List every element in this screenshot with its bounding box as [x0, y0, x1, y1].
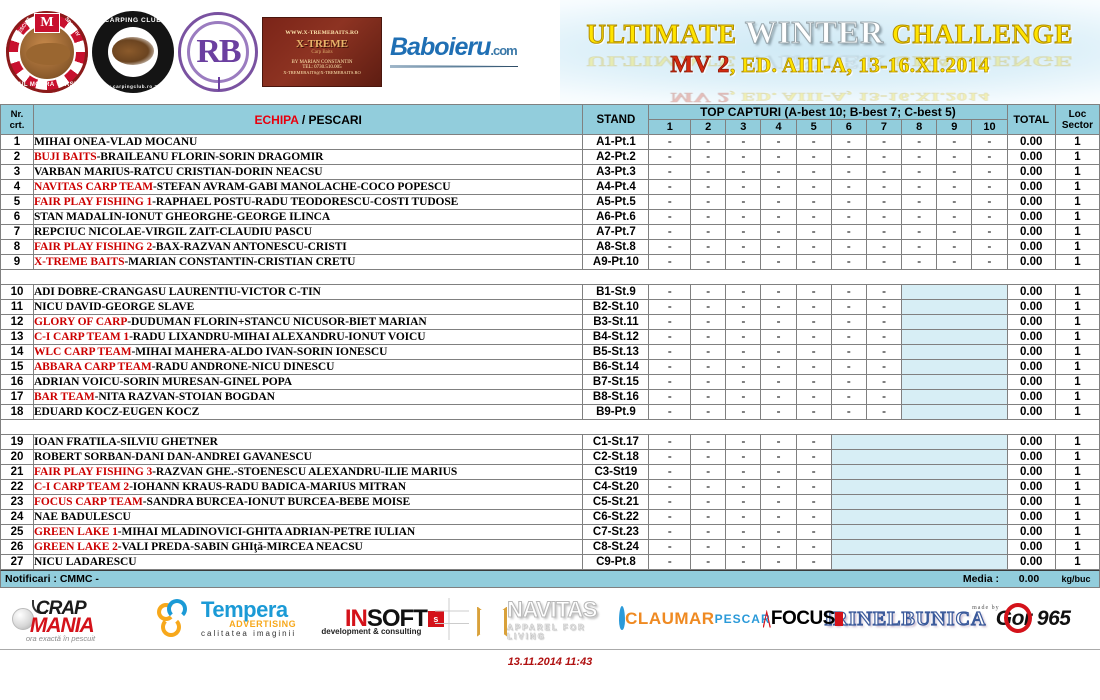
sponsor-gor-965: made by Gor 965	[968, 593, 1088, 645]
cell-nr: 24	[1, 510, 34, 525]
cell-catch[interactable]: -	[796, 510, 831, 525]
cell-catch[interactable]: -	[691, 450, 726, 465]
cell-total: 0.00	[1007, 510, 1055, 525]
cell-catch[interactable]: -	[902, 225, 937, 240]
cell-catch[interactable]: -	[831, 225, 866, 240]
cell-catch[interactable]: -	[726, 360, 761, 375]
fishing-rod-icon	[390, 64, 518, 69]
cell-catch[interactable]: -	[691, 525, 726, 540]
cell-catch[interactable]: -	[649, 180, 691, 195]
cell-catch[interactable]: -	[691, 345, 726, 360]
cell-catch[interactable]: -	[726, 195, 761, 210]
table-row[interactable]: 10ADI DOBRE-CRANGASU LAURENTIU-VICTOR C-…	[1, 285, 1100, 300]
cell-catch[interactable]: -	[649, 450, 691, 465]
cell-stand: B3-St.11	[583, 315, 649, 330]
cell-nr: 3	[1, 165, 34, 180]
cell-catch[interactable]: -	[726, 495, 761, 510]
sponsor-claumar: CLAUMAR PESCAR	[635, 593, 755, 645]
cell-catch[interactable]: -	[761, 240, 796, 255]
cell-team-anglers: VARBAN MARIUS-RATCU CRISTIAN-DORIN NEACS…	[33, 165, 582, 180]
cell-catch[interactable]: -	[726, 315, 761, 330]
cell-catch[interactable]: -	[726, 405, 761, 420]
cell-loc-sector: 1	[1055, 135, 1099, 150]
cell-catch[interactable]: -	[726, 525, 761, 540]
cell-total: 0.00	[1007, 345, 1055, 360]
cell-catch[interactable]: -	[972, 135, 1007, 150]
cell-catch[interactable]: -	[831, 150, 866, 165]
cell-team-anglers: GREEN LAKE 2-VALI PREDA-SABIN GHIţă-MIRC…	[33, 540, 582, 555]
cell-total: 0.00	[1007, 240, 1055, 255]
cell-catch[interactable]: -	[649, 210, 691, 225]
cell-catch[interactable]: -	[691, 510, 726, 525]
table-row[interactable]: 25GREEN LAKE 1-MIHAI MLADINOVICI-GHITA A…	[1, 525, 1100, 540]
cell-catch[interactable]: -	[761, 480, 796, 495]
table-row[interactable]: 23FOCUS CARP TEAM-SANDRA BURCEA-IONUT BU…	[1, 495, 1100, 510]
cell-catch[interactable]: -	[726, 225, 761, 240]
cell-catch[interactable]: -	[831, 315, 866, 330]
tempera-name: Tempera	[201, 599, 296, 621]
cell-catch[interactable]: -	[902, 180, 937, 195]
media-label: Media :	[963, 573, 1005, 585]
cell-catch[interactable]: -	[796, 165, 831, 180]
logo-rb: RB	[178, 12, 258, 92]
cell-catch[interactable]: -	[691, 405, 726, 420]
baboieru-name: Baboieru	[390, 33, 490, 61]
baboieru-suffix: .com	[490, 43, 516, 58]
cell-catch[interactable]: -	[726, 180, 761, 195]
cell-catch[interactable]: -	[761, 405, 796, 420]
cell-catch[interactable]: -	[866, 390, 901, 405]
cell-catch[interactable]: -	[831, 360, 866, 375]
cell-catch[interactable]: -	[649, 405, 691, 420]
cell-catch[interactable]: -	[649, 540, 691, 555]
cell-team-anglers: BAR TEAM-NITA RAZVAN-STOIAN BOGDAN	[33, 390, 582, 405]
cell-stand: A8-St.8	[583, 240, 649, 255]
cell-catch[interactable]: -	[649, 135, 691, 150]
cell-catch[interactable]: -	[761, 255, 796, 270]
cell-catch[interactable]: -	[691, 180, 726, 195]
cell-catch[interactable]: -	[761, 150, 796, 165]
table-row[interactable]: 6STAN MADALIN-IONUT GHEORGHE-GEORGE ILIN…	[1, 210, 1100, 225]
cell-loc-sector: 1	[1055, 345, 1099, 360]
cell-total: 0.00	[1007, 255, 1055, 270]
cell-team-anglers: FAIR PLAY FISHING 1-RAPHAEL POSTU-RADU T…	[33, 195, 582, 210]
cell-stand: B7-St.15	[583, 375, 649, 390]
cell-catch[interactable]: -	[761, 375, 796, 390]
cell-catch[interactable]: -	[937, 195, 972, 210]
cell-catch[interactable]: -	[796, 255, 831, 270]
cell-catch[interactable]: -	[902, 255, 937, 270]
cell-catch[interactable]: -	[691, 150, 726, 165]
cell-catch[interactable]: -	[691, 390, 726, 405]
cell-catch[interactable]: -	[649, 285, 691, 300]
table-row[interactable]: 15ABBARA CARP TEAM-RADU ANDRONE-NICU DIN…	[1, 360, 1100, 375]
cell-catch[interactable]: -	[761, 315, 796, 330]
cell-catch[interactable]: -	[761, 345, 796, 360]
cell-catch[interactable]: -	[761, 360, 796, 375]
cell-catch[interactable]: -	[831, 390, 866, 405]
table-row[interactable]: 2BUJI BAITS-BRAILEANU FLORIN-SORIN DRAGO…	[1, 150, 1100, 165]
cell-team-anglers: GLORY OF CARP-DUDUMAN FLORIN+STANCU NICU…	[33, 315, 582, 330]
cell-catch[interactable]: -	[866, 240, 901, 255]
cell-catch[interactable]: -	[761, 465, 796, 480]
cell-nr: 11	[1, 300, 34, 315]
cell-catch[interactable]: -	[649, 165, 691, 180]
cell-catch[interactable]: -	[866, 180, 901, 195]
cell-catch[interactable]: -	[796, 240, 831, 255]
cell-catch[interactable]: -	[691, 135, 726, 150]
cell-catch[interactable]: -	[691, 255, 726, 270]
cell-catch[interactable]: -	[831, 165, 866, 180]
cell-catch[interactable]: -	[937, 135, 972, 150]
cell-catch[interactable]: -	[866, 225, 901, 240]
cell-catch[interactable]: -	[726, 345, 761, 360]
cell-loc-sector: 1	[1055, 285, 1099, 300]
cell-catch[interactable]: -	[726, 135, 761, 150]
cell-catch[interactable]: -	[796, 495, 831, 510]
cell-catch[interactable]: -	[866, 375, 901, 390]
cell-catch[interactable]: -	[691, 495, 726, 510]
cell-team-anglers: BUJI BAITS-BRAILEANU FLORIN-SORIN DRAGOM…	[33, 150, 582, 165]
cell-team-anglers: NAVITAS CARP TEAM-STEFAN AVRAM-GABI MANO…	[33, 180, 582, 195]
cell-catch[interactable]: -	[691, 300, 726, 315]
cell-catch[interactable]: -	[796, 525, 831, 540]
cell-catch[interactable]: -	[726, 240, 761, 255]
cell-catch[interactable]: -	[691, 165, 726, 180]
cell-catch[interactable]: -	[649, 360, 691, 375]
cell-catch[interactable]: -	[937, 180, 972, 195]
notifications-bar: Notificari : CMMC - Media : 0.00 kg/buc	[0, 570, 1100, 588]
cell-catch[interactable]: -	[972, 165, 1007, 180]
cell-catch[interactable]: -	[796, 285, 831, 300]
cell-catch[interactable]: -	[691, 195, 726, 210]
cell-catch-disabled	[831, 450, 1007, 465]
cell-catch[interactable]: -	[902, 210, 937, 225]
cell-team-anglers: NAE BADULESCU	[33, 510, 582, 525]
cell-loc-sector: 1	[1055, 540, 1099, 555]
table-row[interactable]: 24NAE BADULESCUC6-St.22-----0.001	[1, 510, 1100, 525]
table-row[interactable]: 1MIHAI ONEA-VLAD MOCANUA1-Pt.1----------…	[1, 135, 1100, 150]
table-row[interactable]: 26GREEN LAKE 2-VALI PREDA-SABIN GHIţă-MI…	[1, 540, 1100, 555]
cell-catch[interactable]: -	[726, 555, 761, 570]
cell-catch[interactable]: -	[831, 210, 866, 225]
table-row[interactable]: 19IOAN FRATILA-SILVIU GHETNERC1-St.17---…	[1, 435, 1100, 450]
th-catch-9: 9	[937, 120, 972, 135]
cell-catch[interactable]: -	[649, 255, 691, 270]
cell-team-anglers: ADRIAN VOICU-SORIN MURESAN-GINEL POPA	[33, 375, 582, 390]
cell-catch-disabled	[831, 510, 1007, 525]
cell-catch[interactable]: -	[691, 360, 726, 375]
cell-catch[interactable]: -	[796, 375, 831, 390]
cell-catch[interactable]: -	[796, 345, 831, 360]
cell-catch[interactable]: -	[649, 465, 691, 480]
cell-catch[interactable]: -	[937, 225, 972, 240]
cell-nr: 9	[1, 255, 34, 270]
cell-catch[interactable]: -	[972, 195, 1007, 210]
cell-catch[interactable]: -	[691, 435, 726, 450]
cell-team-anglers: REPCIUC NICOLAE-VIRGIL ZAIT-CLAUDIU PASC…	[33, 225, 582, 240]
cell-catch[interactable]: -	[649, 240, 691, 255]
cell-catch[interactable]: -	[831, 300, 866, 315]
cell-catch[interactable]: -	[761, 450, 796, 465]
table-row[interactable]: 22C-I CARP TEAM 2-IOHANN KRAUS-RADU BADI…	[1, 480, 1100, 495]
sponsor-navitas: NAVITAS APPAREL FOR LIVING	[477, 594, 627, 644]
media-value: 0.00	[1005, 573, 1053, 585]
cell-catch[interactable]: -	[796, 195, 831, 210]
cell-catch[interactable]: -	[726, 375, 761, 390]
cell-catch[interactable]: -	[691, 285, 726, 300]
cell-catch[interactable]: -	[691, 330, 726, 345]
tournament-scoreboard-page: M LACUL MOARA VLASIEI 2 PESCUIT SPORTIV …	[0, 0, 1100, 700]
cell-catch[interactable]: -	[649, 315, 691, 330]
cell-catch[interactable]: -	[726, 540, 761, 555]
cell-catch[interactable]: -	[831, 345, 866, 360]
cell-catch[interactable]: -	[937, 150, 972, 165]
cell-catch[interactable]: -	[761, 195, 796, 210]
cell-total: 0.00	[1007, 210, 1055, 225]
table-row[interactable]: 13C-I CARP TEAM 1-RADU LIXANDRU-MIHAI AL…	[1, 330, 1100, 345]
cell-catch[interactable]: -	[691, 555, 726, 570]
cell-total: 0.00	[1007, 390, 1055, 405]
cell-catch[interactable]: -	[972, 210, 1007, 225]
cell-catch[interactable]: -	[761, 210, 796, 225]
cell-catch[interactable]: -	[796, 465, 831, 480]
cell-catch[interactable]: -	[726, 435, 761, 450]
cell-catch[interactable]: -	[902, 165, 937, 180]
cell-catch[interactable]: -	[649, 225, 691, 240]
th-catch-2: 2	[691, 120, 726, 135]
gor-oval-icon	[1004, 603, 1032, 633]
cell-catch[interactable]: -	[937, 240, 972, 255]
cell-catch[interactable]: -	[972, 225, 1007, 240]
cell-team-anglers: MIHAI ONEA-VLAD MOCANU	[33, 135, 582, 150]
cell-catch[interactable]: -	[761, 300, 796, 315]
cell-catch[interactable]: -	[649, 510, 691, 525]
cell-catch[interactable]: -	[902, 195, 937, 210]
cell-catch[interactable]: -	[761, 390, 796, 405]
sponsor-footer: CRAP MANIA ora exactă în pescuit Tempera…	[0, 588, 1100, 650]
cell-catch[interactable]: -	[649, 195, 691, 210]
cell-catch[interactable]: -	[726, 285, 761, 300]
table-row[interactable]: 3VARBAN MARIUS-RATCU CRISTIAN-DORIN NEAC…	[1, 165, 1100, 180]
table-row[interactable]: 8FAIR PLAY FISHING 2-BAX-RAZVAN ANTONESC…	[1, 240, 1100, 255]
cell-catch[interactable]: -	[972, 240, 1007, 255]
th-loc-sector: LocSector	[1055, 105, 1099, 135]
rb-text: RB	[196, 35, 239, 69]
cell-catch[interactable]: -	[831, 135, 866, 150]
cell-catch[interactable]: -	[972, 255, 1007, 270]
cell-catch[interactable]: -	[761, 510, 796, 525]
cell-catch[interactable]: -	[937, 255, 972, 270]
cell-catch[interactable]: -	[796, 225, 831, 240]
cell-catch[interactable]: -	[726, 255, 761, 270]
cell-catch[interactable]: -	[761, 495, 796, 510]
cell-catch[interactable]: -	[726, 465, 761, 480]
table-row[interactable]: 17BAR TEAM-NITA RAZVAN-STOIAN BOGDANB8-S…	[1, 390, 1100, 405]
cell-catch[interactable]: -	[866, 255, 901, 270]
table-row[interactable]: 5FAIR PLAY FISHING 1-RAPHAEL POSTU-RADU …	[1, 195, 1100, 210]
cell-catch[interactable]: -	[649, 390, 691, 405]
table-row[interactable]: 16ADRIAN VOICU-SORIN MURESAN-GINEL POPAB…	[1, 375, 1100, 390]
cell-stand: B9-Pt.9	[583, 405, 649, 420]
tempera-tagline: calitatea imaginii	[201, 629, 296, 638]
cell-catch-disabled	[831, 435, 1007, 450]
cell-catch[interactable]: -	[796, 555, 831, 570]
cell-catch[interactable]: -	[691, 225, 726, 240]
cell-catch[interactable]: -	[726, 480, 761, 495]
table-row[interactable]: 27NICU LADARESCUC9-Pt.8-----0.001	[1, 555, 1100, 570]
cell-catch[interactable]: -	[866, 135, 901, 150]
cell-catch[interactable]: -	[649, 495, 691, 510]
cell-catch[interactable]: -	[796, 435, 831, 450]
cell-catch[interactable]: -	[866, 300, 901, 315]
cell-catch[interactable]: -	[761, 225, 796, 240]
cell-catch[interactable]: -	[761, 285, 796, 300]
cell-catch[interactable]: -	[761, 525, 796, 540]
carping-club-top-text: CARPING CLUB	[104, 17, 161, 24]
cell-catch[interactable]: -	[761, 135, 796, 150]
cell-catch[interactable]: -	[937, 165, 972, 180]
cell-catch[interactable]: -	[831, 195, 866, 210]
cell-catch[interactable]: -	[726, 210, 761, 225]
cell-catch[interactable]: -	[831, 330, 866, 345]
cell-catch[interactable]: -	[796, 390, 831, 405]
cell-catch[interactable]: -	[726, 300, 761, 315]
cell-catch[interactable]: -	[761, 330, 796, 345]
cell-catch[interactable]: -	[691, 210, 726, 225]
cell-catch[interactable]: -	[726, 330, 761, 345]
table-row[interactable]: 14WLC CARP TEAM-MIHAI MAHERA-ALDO IVAN-S…	[1, 345, 1100, 360]
cell-catch[interactable]: -	[796, 330, 831, 345]
table-row[interactable]: 9X-TREME BAITS-MARIAN CONSTANTIN-CRISTIA…	[1, 255, 1100, 270]
cell-catch[interactable]: -	[796, 300, 831, 315]
table-row[interactable]: 18EDUARD KOCZ-EUGEN KOCZB9-Pt.9-------0.…	[1, 405, 1100, 420]
table-row[interactable]: 20ROBERT SORBAN-DANI DAN-ANDREI GAVANESC…	[1, 450, 1100, 465]
cell-catch[interactable]: -	[796, 210, 831, 225]
logo-lacul-moara-vlasiei: M LACUL MOARA VLASIEI 2 PESCUIT SPORTIV	[6, 11, 88, 93]
cell-catch[interactable]: -	[649, 375, 691, 390]
cell-team-anglers: GREEN LAKE 1-MIHAI MLADINOVICI-GHITA ADR…	[33, 525, 582, 540]
cell-catch[interactable]: -	[691, 375, 726, 390]
cell-catch[interactable]: -	[831, 180, 866, 195]
cell-catch[interactable]: -	[866, 195, 901, 210]
cell-nr: 12	[1, 315, 34, 330]
cell-catch[interactable]: -	[761, 555, 796, 570]
cell-catch[interactable]: -	[902, 240, 937, 255]
cell-total: 0.00	[1007, 315, 1055, 330]
cell-catch[interactable]: -	[761, 180, 796, 195]
th-catch-5: 5	[796, 120, 831, 135]
table-row[interactable]: 11NICU DAVID-GEORGE SLAVEB2-St.10-------…	[1, 300, 1100, 315]
cell-catch[interactable]: -	[831, 375, 866, 390]
cell-catch[interactable]: -	[761, 435, 796, 450]
cell-loc-sector: 1	[1055, 315, 1099, 330]
cell-catch[interactable]: -	[649, 435, 691, 450]
cell-nr: 15	[1, 360, 34, 375]
cell-catch[interactable]: -	[831, 405, 866, 420]
cell-catch[interactable]: -	[726, 510, 761, 525]
cell-catch[interactable]: -	[726, 165, 761, 180]
cell-catch[interactable]: -	[831, 240, 866, 255]
cell-catch[interactable]: -	[796, 150, 831, 165]
cell-catch[interactable]: -	[866, 210, 901, 225]
table-row[interactable]: 21FAIR PLAY FISHING 3-RAZVAN GHE.-STOENE…	[1, 465, 1100, 480]
group-spacer-row	[1, 420, 1100, 435]
cell-catch[interactable]: -	[866, 150, 901, 165]
table-row[interactable]: 4NAVITAS CARP TEAM-STEFAN AVRAM-GABI MAN…	[1, 180, 1100, 195]
cell-catch[interactable]: -	[649, 525, 691, 540]
table-row[interactable]: 12GLORY OF CARP-DUDUMAN FLORIN+STANCU NI…	[1, 315, 1100, 330]
cell-catch-disabled	[831, 465, 1007, 480]
cell-catch[interactable]: -	[831, 285, 866, 300]
cell-catch[interactable]: -	[691, 315, 726, 330]
cell-catch[interactable]: -	[649, 345, 691, 360]
cell-catch[interactable]: -	[726, 450, 761, 465]
cell-catch[interactable]: -	[796, 315, 831, 330]
cell-catch[interactable]: -	[761, 165, 796, 180]
sponsor-insoft: INSOFTs development & consulting	[319, 594, 469, 644]
crapmania-tagline: ora exactă în pescuit	[26, 634, 95, 643]
table-header-row-1: Nr.crt.ECHIPA / PESCARISTANDTOP CAPTURI …	[1, 105, 1100, 120]
cell-catch[interactable]: -	[649, 300, 691, 315]
cell-catch[interactable]: -	[796, 480, 831, 495]
cell-catch[interactable]: -	[972, 150, 1007, 165]
cell-catch[interactable]: -	[761, 540, 796, 555]
cell-loc-sector: 1	[1055, 165, 1099, 180]
cell-catch[interactable]: -	[691, 540, 726, 555]
table-row[interactable]: 7REPCIUC NICOLAE-VIRGIL ZAIT-CLAUDIU PAS…	[1, 225, 1100, 240]
results-table: Nr.crt.ECHIPA / PESCARISTANDTOP CAPTURI …	[0, 104, 1100, 570]
cell-nr: 8	[1, 240, 34, 255]
cell-catch[interactable]: -	[831, 255, 866, 270]
cell-catch[interactable]: -	[866, 285, 901, 300]
cell-catch[interactable]: -	[649, 480, 691, 495]
cell-catch[interactable]: -	[796, 405, 831, 420]
cell-catch[interactable]: -	[866, 405, 901, 420]
cell-catch[interactable]: -	[866, 315, 901, 330]
cell-catch[interactable]: -	[866, 330, 901, 345]
cell-catch[interactable]: -	[866, 345, 901, 360]
cell-catch[interactable]: -	[796, 540, 831, 555]
cell-catch[interactable]: -	[649, 330, 691, 345]
cell-catch[interactable]: -	[796, 450, 831, 465]
claumar-name: CLAUMAR	[625, 610, 714, 627]
cell-team-anglers: X-TREME BAITS-MARIAN CONSTANTIN-CRISTIAN…	[33, 255, 582, 270]
cell-catch[interactable]: -	[726, 150, 761, 165]
cell-loc-sector: 1	[1055, 555, 1099, 570]
cell-catch[interactable]: -	[691, 240, 726, 255]
cell-catch[interactable]: -	[902, 150, 937, 165]
cell-catch[interactable]: -	[649, 555, 691, 570]
cell-stand: B2-St.10	[583, 300, 649, 315]
cell-catch[interactable]: -	[691, 480, 726, 495]
cell-catch[interactable]: -	[649, 150, 691, 165]
cell-catch[interactable]: -	[796, 180, 831, 195]
sponsor-crap-mania: CRAP MANIA ora exactă în pescuit	[12, 594, 134, 644]
xtreme-name: X-TREME	[296, 38, 348, 50]
cell-stand: C9-Pt.8	[583, 555, 649, 570]
cell-catch[interactable]: -	[902, 135, 937, 150]
cell-catch[interactable]: -	[866, 165, 901, 180]
cell-catch[interactable]: -	[691, 465, 726, 480]
cell-catch-disabled	[902, 390, 1008, 405]
cell-catch[interactable]: -	[866, 360, 901, 375]
cell-catch[interactable]: -	[726, 390, 761, 405]
cell-catch[interactable]: -	[796, 135, 831, 150]
cell-catch[interactable]: -	[972, 180, 1007, 195]
cell-catch[interactable]: -	[937, 210, 972, 225]
cell-catch[interactable]: -	[796, 360, 831, 375]
